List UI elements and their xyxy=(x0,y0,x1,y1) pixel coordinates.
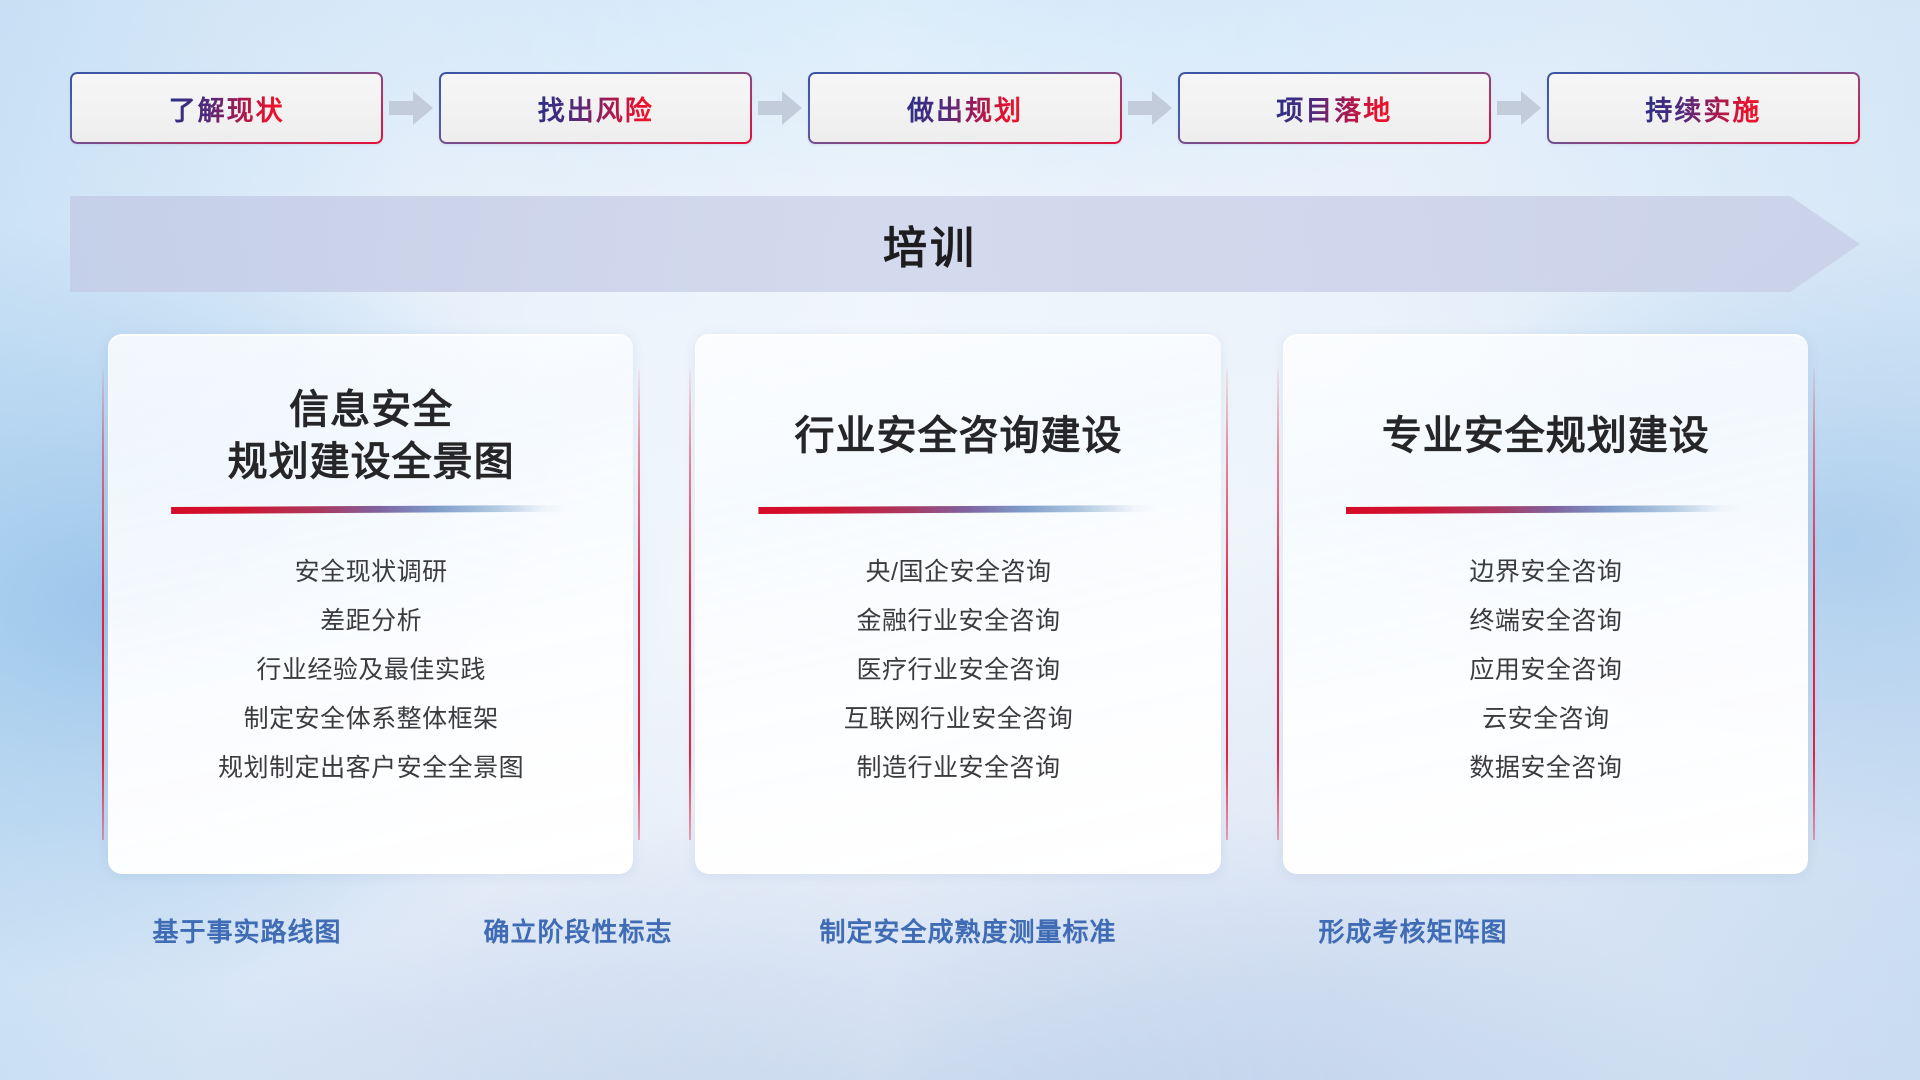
card-list: 边界安全咨询 终端安全咨询 应用安全咨询 云安全咨询 数据安全咨询 xyxy=(1308,548,1784,793)
list-item: 行业经验及最佳实践 xyxy=(133,646,609,695)
list-item: 差距分析 xyxy=(133,597,609,646)
step-box-4[interactable]: 项目落地 xyxy=(1178,72,1491,144)
step-label: 做出规划 xyxy=(907,89,1023,128)
process-step-row: 了解现状 找出风险 做出规划 项目落地 xyxy=(70,72,1860,144)
step-box-3[interactable]: 做出规划 xyxy=(808,72,1121,144)
step-label: 项目落地 xyxy=(1276,89,1392,128)
card-title: 行业安全咨询建设 xyxy=(794,383,1122,489)
list-item: 边界安全咨询 xyxy=(1308,548,1784,597)
footer-caption-row: 基于事实路线图 确立阶段性标志 制定安全成熟度测量标准 形成考核矩阵图 xyxy=(0,912,1920,960)
card-title: 信息安全 规划建设全景图 xyxy=(228,383,515,489)
list-item: 金融行业安全咨询 xyxy=(720,597,1196,646)
step-box-1[interactable]: 了解现状 xyxy=(70,72,383,144)
card-title-line: 行业安全咨询建设 xyxy=(794,410,1122,462)
footer-caption-1: 基于事实路线图 xyxy=(152,912,341,949)
card-1[interactable]: 信息安全 规划建设全景图 安全现状调研 差距分析 行业经验及最佳实践 制定安全体… xyxy=(108,334,633,874)
step-box-5[interactable]: 持续实施 xyxy=(1547,72,1860,144)
step-label: 了解现状 xyxy=(169,89,285,128)
list-item: 医疗行业安全咨询 xyxy=(720,646,1196,695)
card-title: 专业安全规划建设 xyxy=(1382,383,1710,489)
list-item: 制造行业安全咨询 xyxy=(720,744,1196,793)
list-item: 应用安全咨询 xyxy=(1308,646,1784,695)
card-3[interactable]: 专业安全规划建设 边界安全咨询 终端安全咨询 应用安全咨询 云安全咨询 数据安全… xyxy=(1283,334,1808,874)
card-title-line: 规划建设全景图 xyxy=(228,436,515,488)
card-list: 央/国企安全咨询 金融行业安全咨询 医疗行业安全咨询 互联网行业安全咨询 制造行… xyxy=(720,548,1196,793)
list-item: 制定安全体系整体框架 xyxy=(133,695,609,744)
slide-canvas: 了解现状 找出风险 做出规划 项目落地 xyxy=(0,0,1920,1080)
card-divider xyxy=(758,505,1158,514)
step-label: 持续实施 xyxy=(1645,89,1761,128)
arrow-right-icon xyxy=(1491,88,1547,128)
arrow-right-icon xyxy=(1122,88,1178,128)
list-item: 终端安全咨询 xyxy=(1308,597,1784,646)
card-title-line: 专业安全规划建设 xyxy=(1382,410,1710,462)
list-item: 互联网行业安全咨询 xyxy=(720,695,1196,744)
list-item: 规划制定出客户安全全景图 xyxy=(133,744,609,793)
card-divider xyxy=(171,505,571,514)
card-2[interactable]: 行业安全咨询建设 央/国企安全咨询 金融行业安全咨询 医疗行业安全咨询 互联网行… xyxy=(695,334,1220,874)
footer-caption-2: 确立阶段性标志 xyxy=(483,912,672,949)
list-item: 央/国企安全咨询 xyxy=(720,548,1196,597)
training-banner: 培训 xyxy=(70,196,1860,292)
banner-label: 培训 xyxy=(70,196,1860,292)
step-box-2[interactable]: 找出风险 xyxy=(439,72,752,144)
card-divider xyxy=(1346,505,1746,514)
arrow-right-icon xyxy=(752,88,808,128)
list-item: 云安全咨询 xyxy=(1308,695,1784,744)
footer-caption-4: 形成考核矩阵图 xyxy=(1318,912,1507,949)
card-row: 信息安全 规划建设全景图 安全现状调研 差距分析 行业经验及最佳实践 制定安全体… xyxy=(108,334,1808,874)
footer-caption-3: 制定安全成熟度测量标准 xyxy=(819,912,1116,949)
list-item: 数据安全咨询 xyxy=(1308,744,1784,793)
step-label: 找出风险 xyxy=(538,89,654,128)
card-title-line: 信息安全 xyxy=(228,384,515,436)
arrow-right-icon xyxy=(383,88,439,128)
list-item: 安全现状调研 xyxy=(133,548,609,597)
card-list: 安全现状调研 差距分析 行业经验及最佳实践 制定安全体系整体框架 规划制定出客户… xyxy=(133,548,609,793)
